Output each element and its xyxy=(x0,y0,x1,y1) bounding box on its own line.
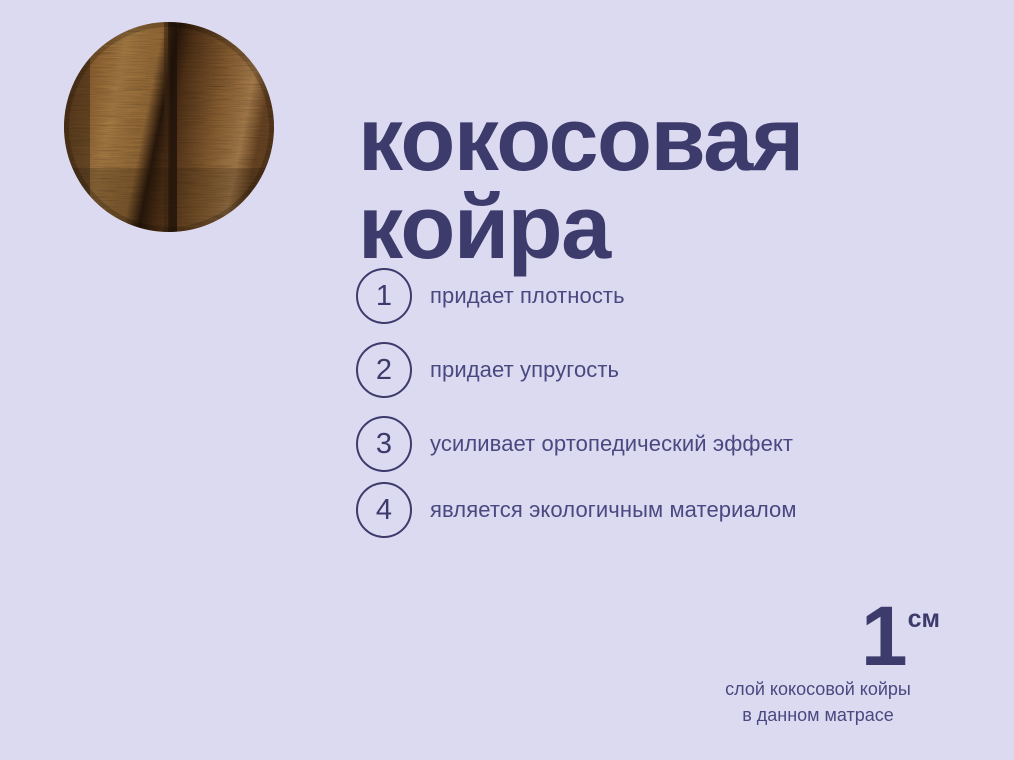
title-line-1: кокосовая xyxy=(358,96,918,184)
feature-label: усиливает ортопедический эффект xyxy=(430,429,793,459)
list-item: 2 придает упругость xyxy=(356,342,826,398)
feature-list: 1 придает плотность 2 придает упругость … xyxy=(356,268,826,548)
feature-label: является экологичным материалом xyxy=(430,495,797,525)
thickness-callout: 1см xyxy=(861,601,938,672)
feature-label: придает упругость xyxy=(430,355,619,385)
list-item: 1 придает плотность xyxy=(356,268,826,324)
thickness-caption: слой кокосовой койры в данном матрасе xyxy=(698,676,938,728)
coconut-coir-photo xyxy=(64,22,274,232)
page-title: кокосовая койра xyxy=(358,96,918,272)
feature-number-badge: 2 xyxy=(356,342,412,398)
feature-number-badge: 4 xyxy=(356,482,412,538)
thickness-caption-line-1: слой кокосовой койры xyxy=(698,676,938,702)
feature-number-badge: 1 xyxy=(356,268,412,324)
slide-root: кокосовая койра 1 придает плотность 2 пр… xyxy=(0,0,1014,760)
thickness-unit: см xyxy=(908,609,940,630)
thickness-value: 1 xyxy=(861,601,906,672)
title-line-2: койра xyxy=(358,184,918,272)
list-item: 3 усиливает ортопедический эффект xyxy=(356,416,826,472)
list-item: 4 является экологичным материалом xyxy=(356,482,826,538)
feature-number-badge: 3 xyxy=(356,416,412,472)
feature-label: придает плотность xyxy=(430,281,625,311)
thickness-caption-line-2: в данном матрасе xyxy=(698,702,938,728)
